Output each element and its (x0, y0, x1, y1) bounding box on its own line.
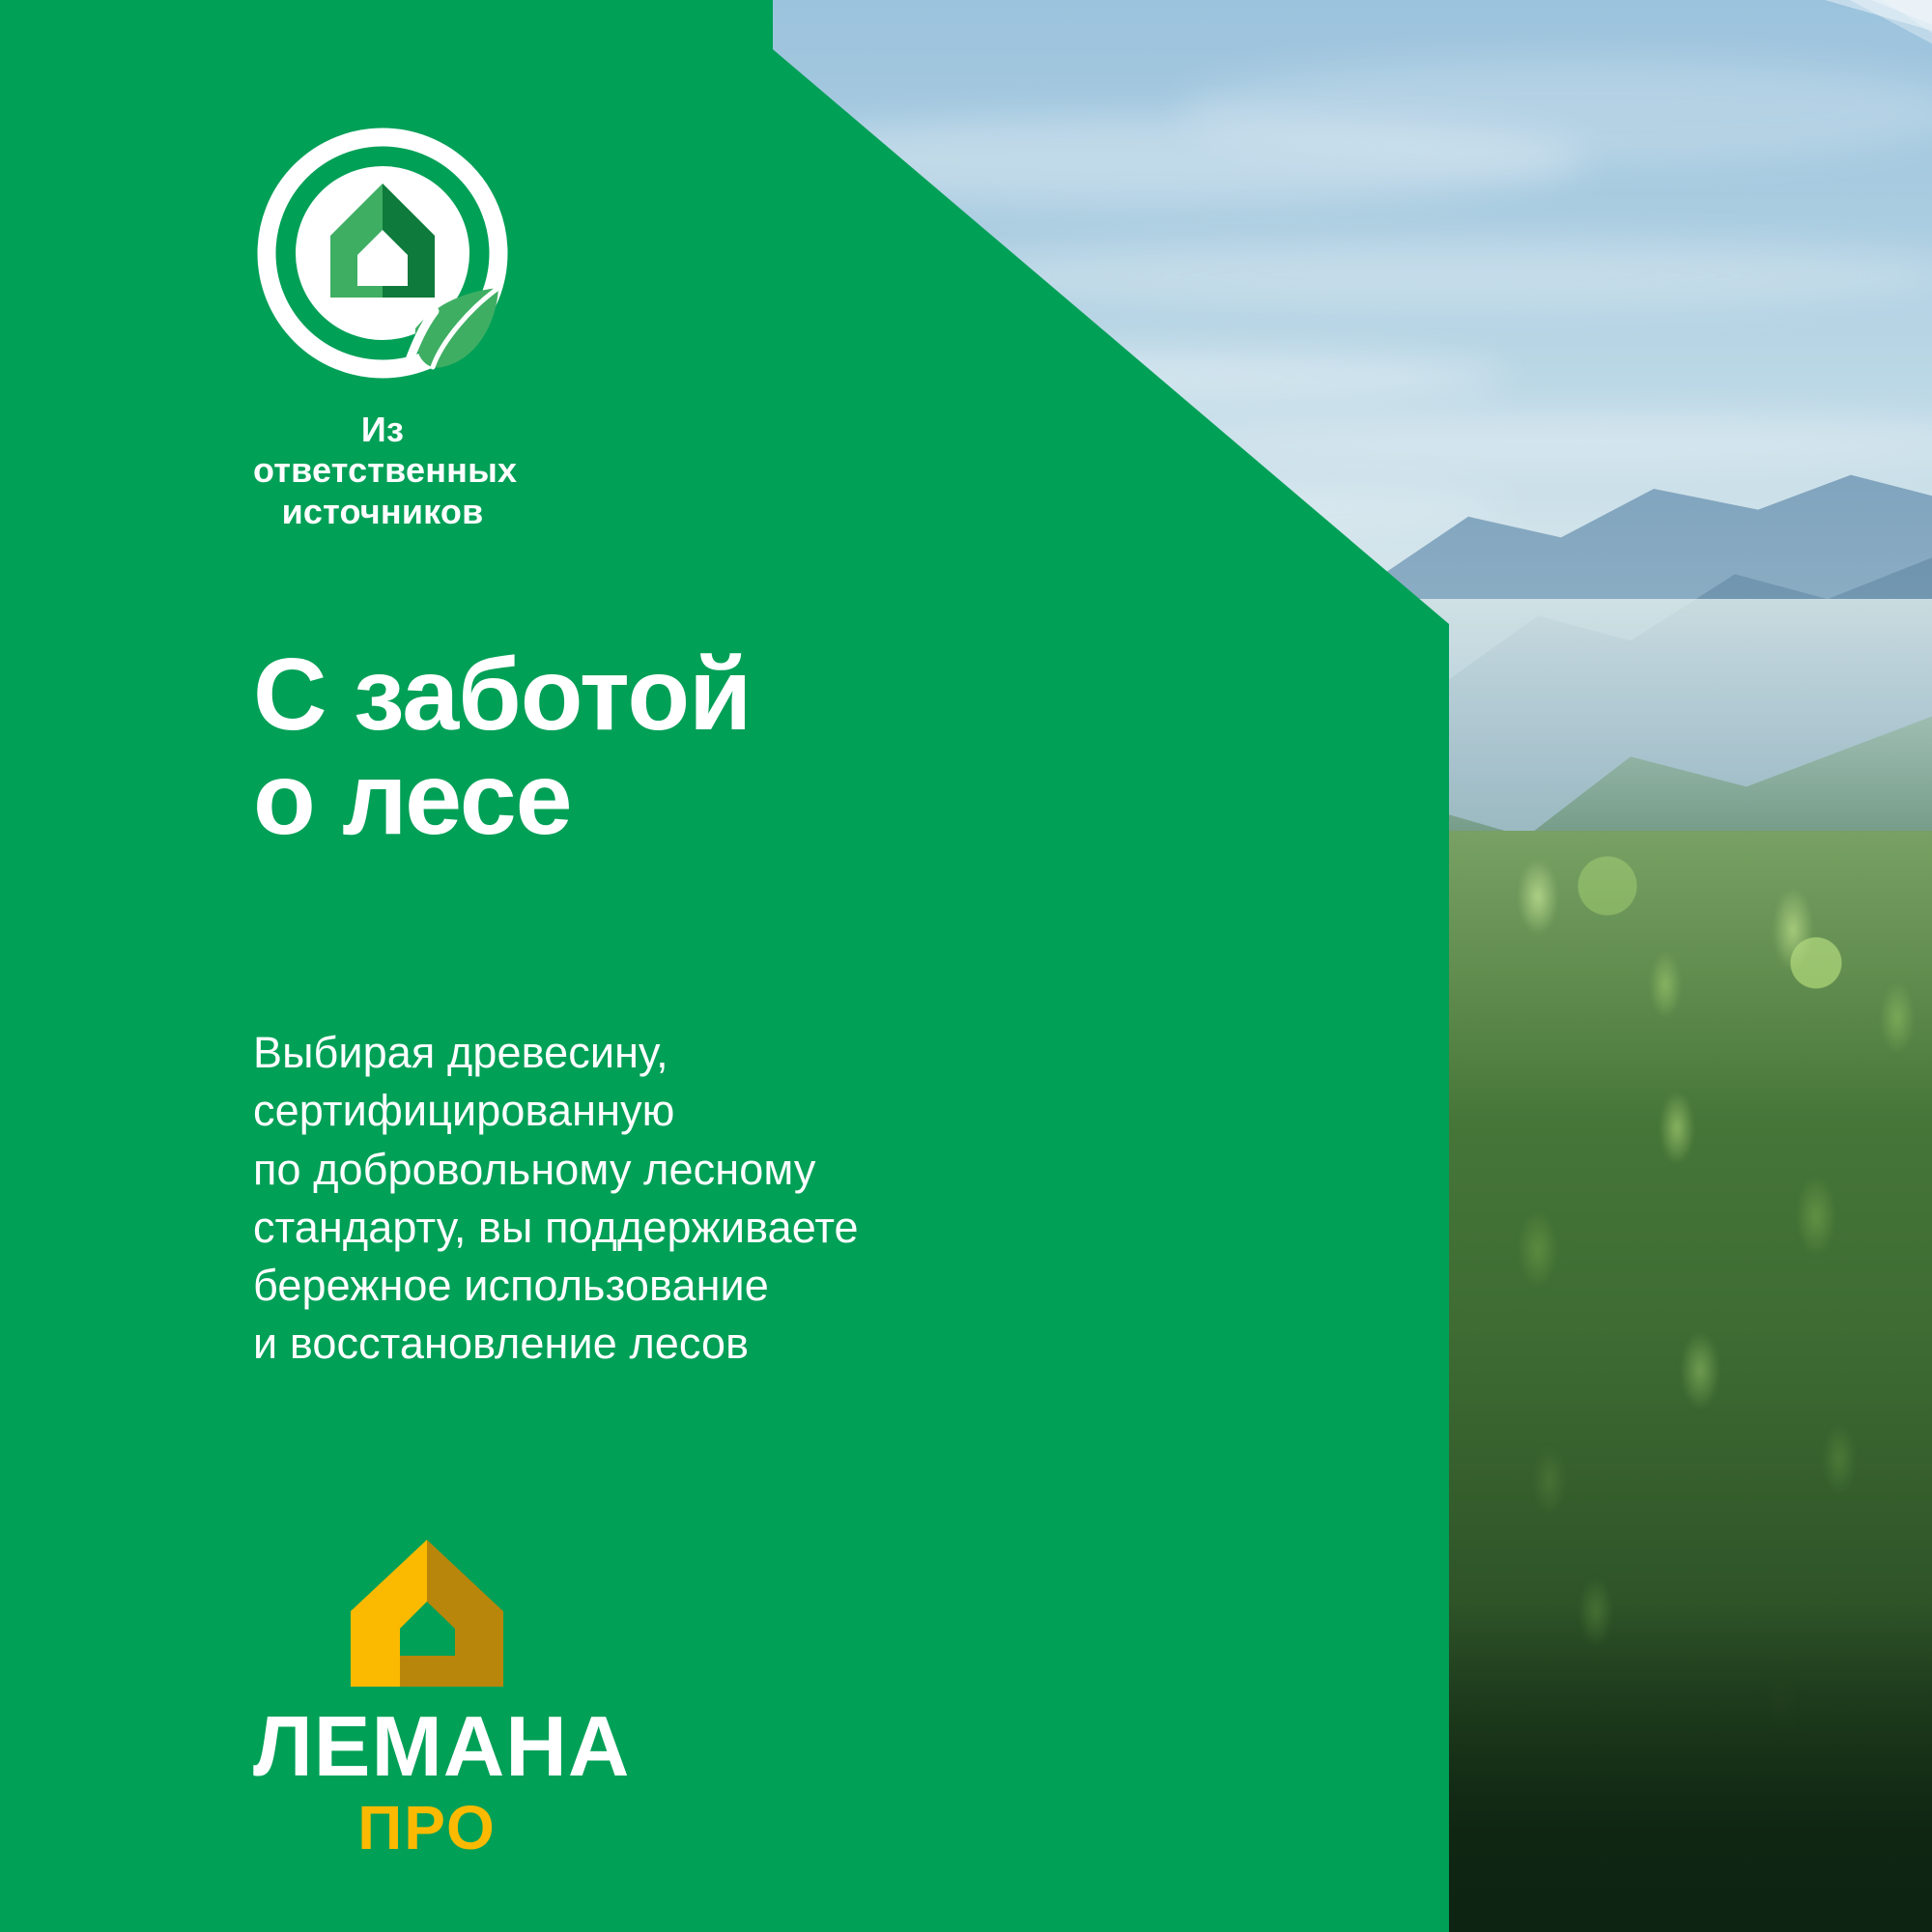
poster-content: Из ответственных источников С заботой о … (0, 0, 1932, 1932)
poster: Из ответственных источников С заботой о … (0, 0, 1932, 1932)
eco-badge: Из ответственных источников (253, 124, 512, 532)
eco-house-leaf-circle-icon (253, 124, 512, 383)
brand-lockup: ЛЕМАНА ПРО (253, 1536, 601, 1859)
brand-subname: ПРО (253, 1797, 601, 1859)
page-title: С заботой о лесе (253, 642, 751, 851)
lemana-house-roof-icon (347, 1536, 507, 1690)
eco-badge-caption: Из ответственных источников (253, 410, 512, 532)
body-paragraph: Выбирая древесину, сертифицированную по … (253, 1024, 859, 1374)
brand-name: ЛЕМАНА (253, 1704, 601, 1789)
